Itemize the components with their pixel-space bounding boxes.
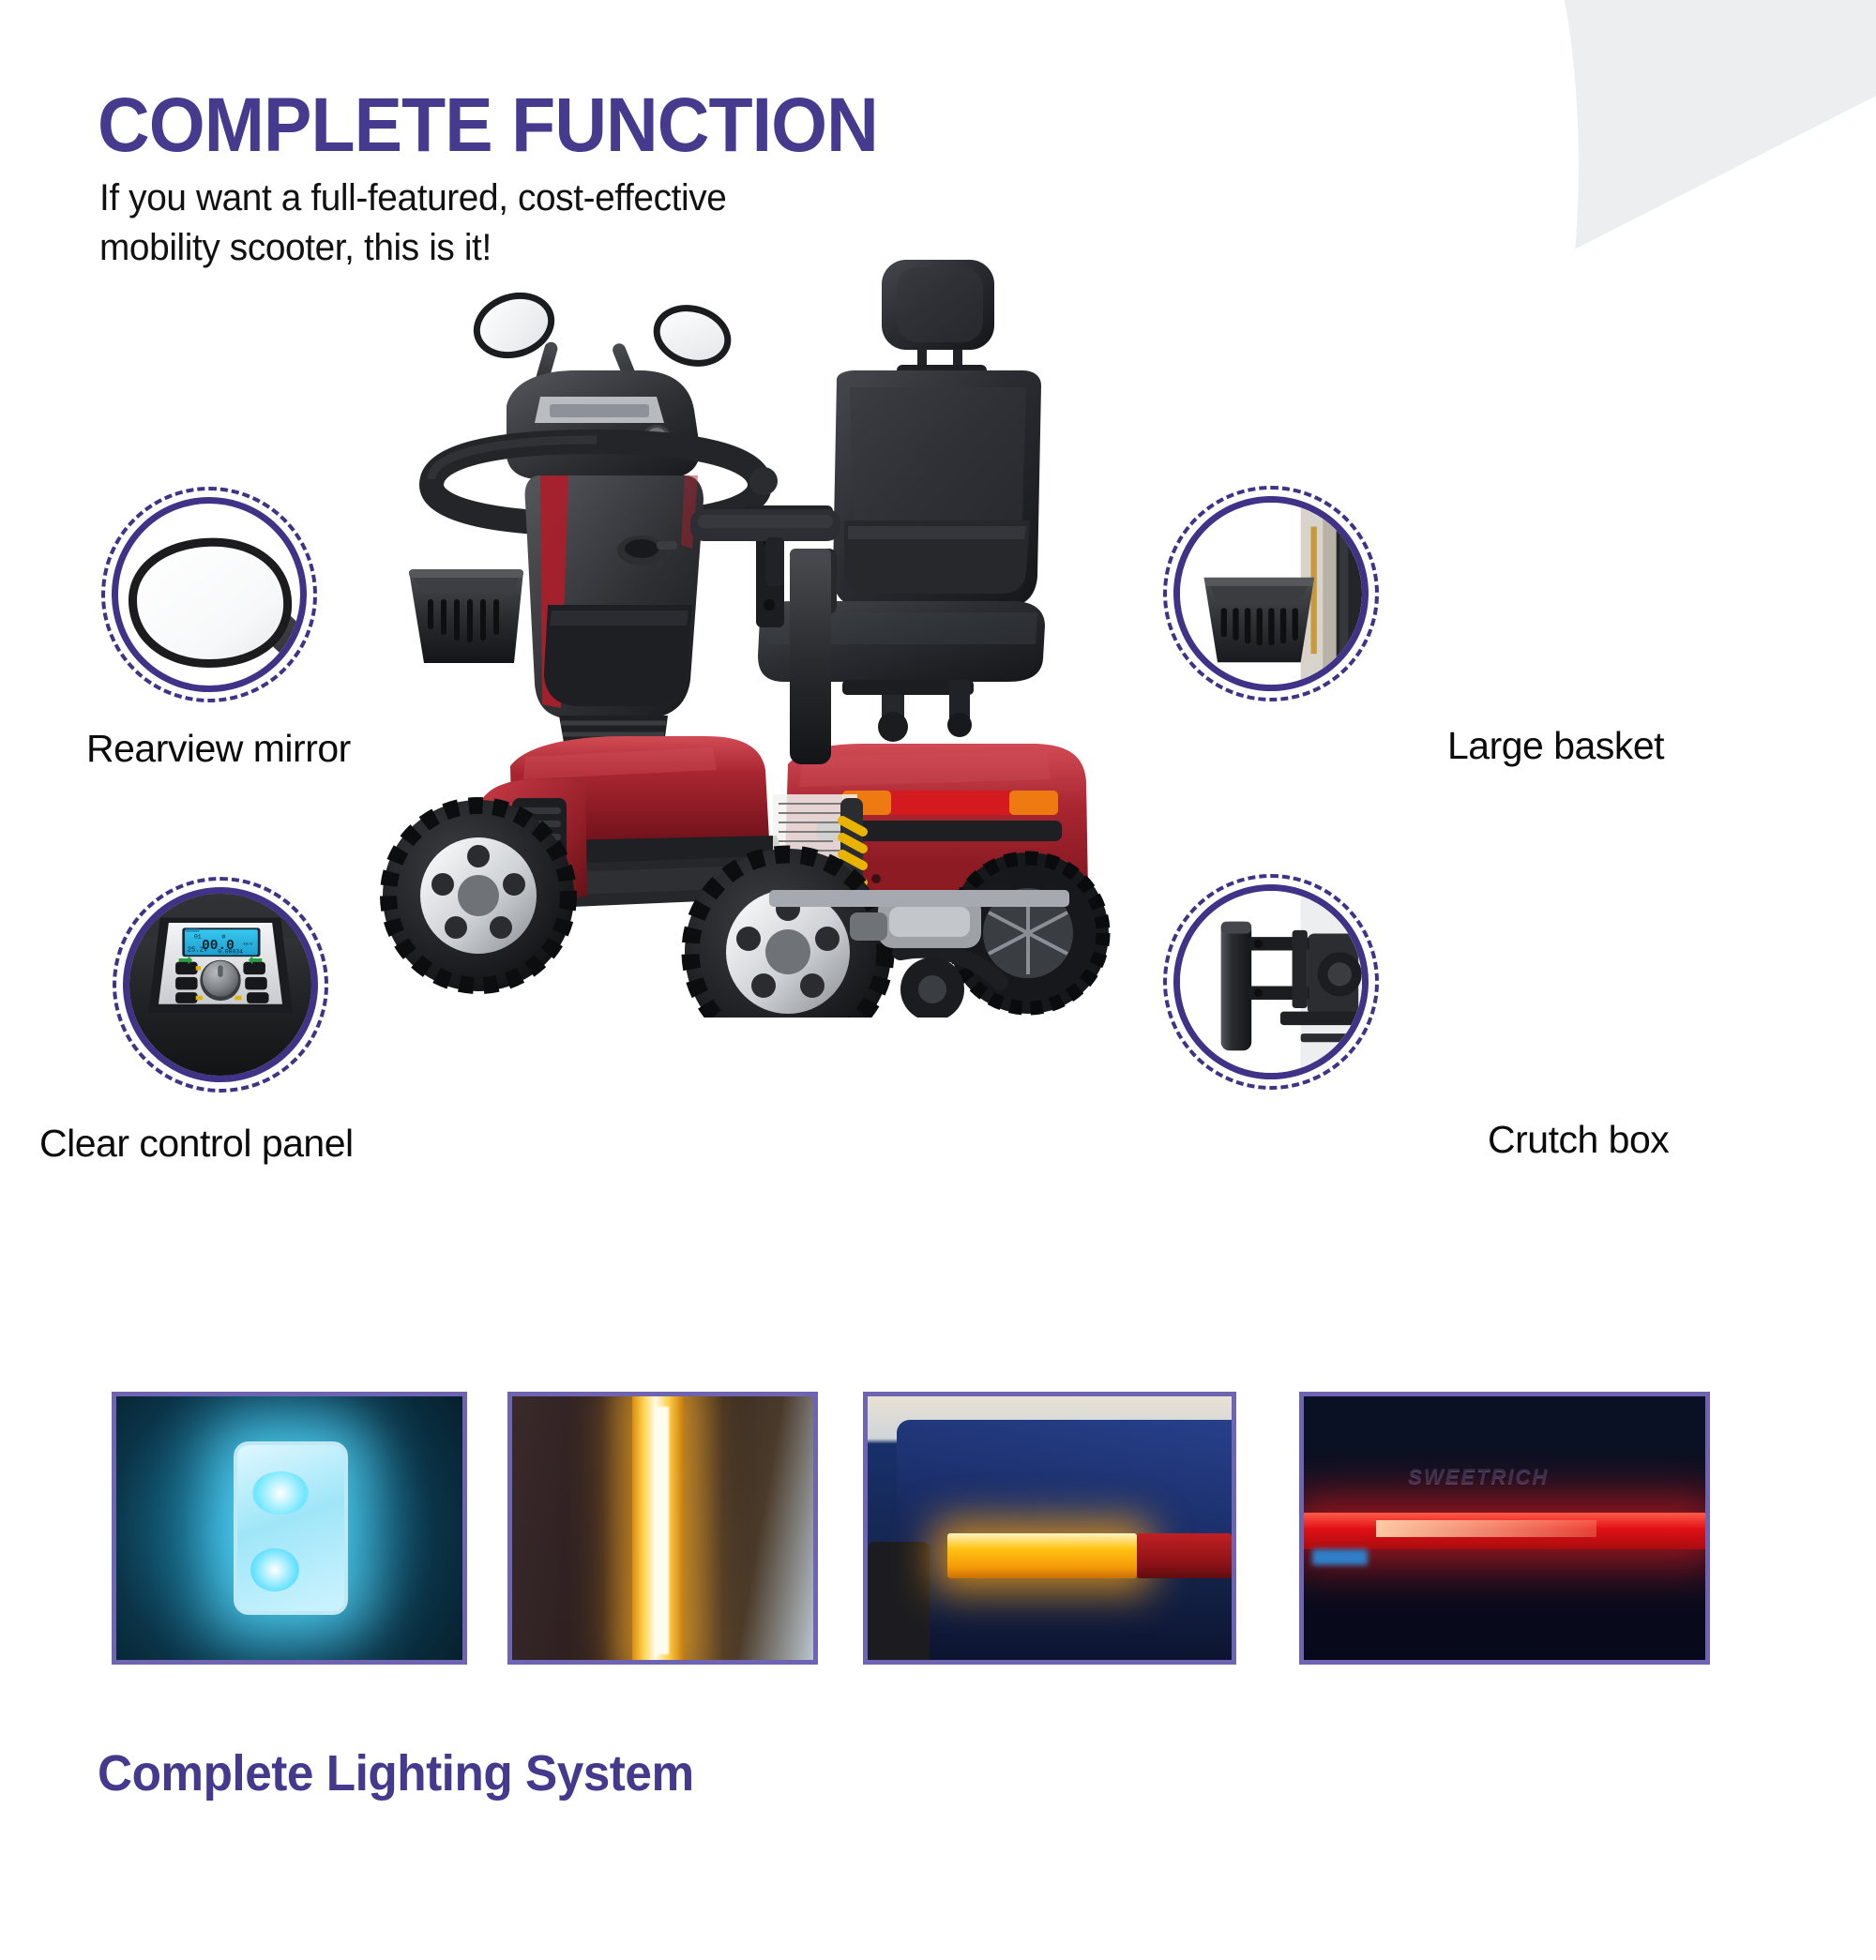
feature-badge-clear-control-panel: 01 ⚙ 00.0 km/h 25.2V 0.00034 <box>113 877 328 1093</box>
badge-solid-ring: 01 ⚙ 00.0 km/h 25.2V 0.00034 <box>123 887 318 1082</box>
badge-image-clip: 01 ⚙ 00.0 km/h 25.2V 0.00034 <box>123 887 318 1082</box>
front-wheel <box>383 800 574 991</box>
product-image-mobility-scooter <box>375 239 1135 1018</box>
feature-badge-crutch-box <box>1163 874 1379 1090</box>
lighting-photo-tail-light: SWEETRICH <box>1299 1392 1710 1665</box>
mirror-icon <box>112 518 307 692</box>
lighting-section-title: Complete Lighting System <box>98 1744 694 1802</box>
panel-button <box>175 977 198 990</box>
badge-solid-ring <box>1173 884 1369 1079</box>
panel-button <box>243 962 265 975</box>
feature-label-large-basket: Large basket <box>1447 724 1664 768</box>
feature-label-rearview-mirror: Rearview mirror <box>86 727 351 771</box>
panel-button <box>175 992 198 1003</box>
lighting-photo-front-turn-signal <box>507 1392 818 1665</box>
side-indicator-amber <box>947 1533 1137 1578</box>
control-panel-icon: 01 ⚙ 00.0 km/h 25.2V 0.00034 <box>123 887 318 1082</box>
photo-content <box>116 1396 462 1660</box>
panel-button <box>247 992 269 1003</box>
lcd-voltage: 25.2V <box>188 947 208 955</box>
page-title: COMPLETE FUNCTION <box>98 87 878 164</box>
fender-tire <box>868 1542 930 1665</box>
badge-image-clip <box>1173 884 1369 1079</box>
lighting-photo-side-indicator <box>863 1392 1236 1665</box>
panel-button <box>245 977 267 990</box>
chassis-rail <box>769 890 1069 907</box>
crutch-box-icon <box>1173 884 1369 1079</box>
badge-image-clip <box>1173 496 1369 691</box>
infographic-canvas: COMPLETE FUNCTION If you want a full-fea… <box>0 0 1876 1876</box>
badge-solid-ring <box>112 497 307 692</box>
tiller-head <box>507 370 700 479</box>
badge-image-clip <box>112 497 307 692</box>
headlight-lamp <box>234 1441 348 1615</box>
crutch-holder-tube <box>790 549 831 764</box>
turn-signal-core <box>654 1407 669 1654</box>
brand-emblem-sweetrich: SWEETRICH <box>1408 1465 1549 1489</box>
lcd-odometer: 0.00034 <box>218 949 243 956</box>
tail-light-amber-right <box>1009 791 1058 815</box>
tail-light-upper-panel <box>1304 1396 1705 1455</box>
feature-label-crutch-box: Crutch box <box>1488 1118 1669 1162</box>
panel-button <box>175 962 198 975</box>
basket-icon <box>1173 496 1369 691</box>
tail-light-bar <box>1304 1513 1705 1549</box>
feature-badge-large-basket <box>1163 486 1379 701</box>
side-indicator-red <box>1137 1533 1232 1578</box>
lighting-photo-headlight <box>112 1392 467 1665</box>
feature-label-clear-control-panel: Clear control panel <box>39 1122 354 1166</box>
lcd-gear: 01 <box>194 933 202 940</box>
badge-solid-ring <box>1173 496 1369 691</box>
photo-content <box>868 1396 1232 1660</box>
photo-content <box>512 1396 813 1660</box>
subtitle-line-1: If you want a full-featured, cost-effect… <box>99 173 726 223</box>
tail-light-blue-reflection <box>1312 1549 1369 1565</box>
feature-badge-rearview-mirror <box>101 487 317 702</box>
photo-content: SWEETRICH <box>1304 1396 1705 1660</box>
lcd-unit: km/h <box>243 942 252 946</box>
